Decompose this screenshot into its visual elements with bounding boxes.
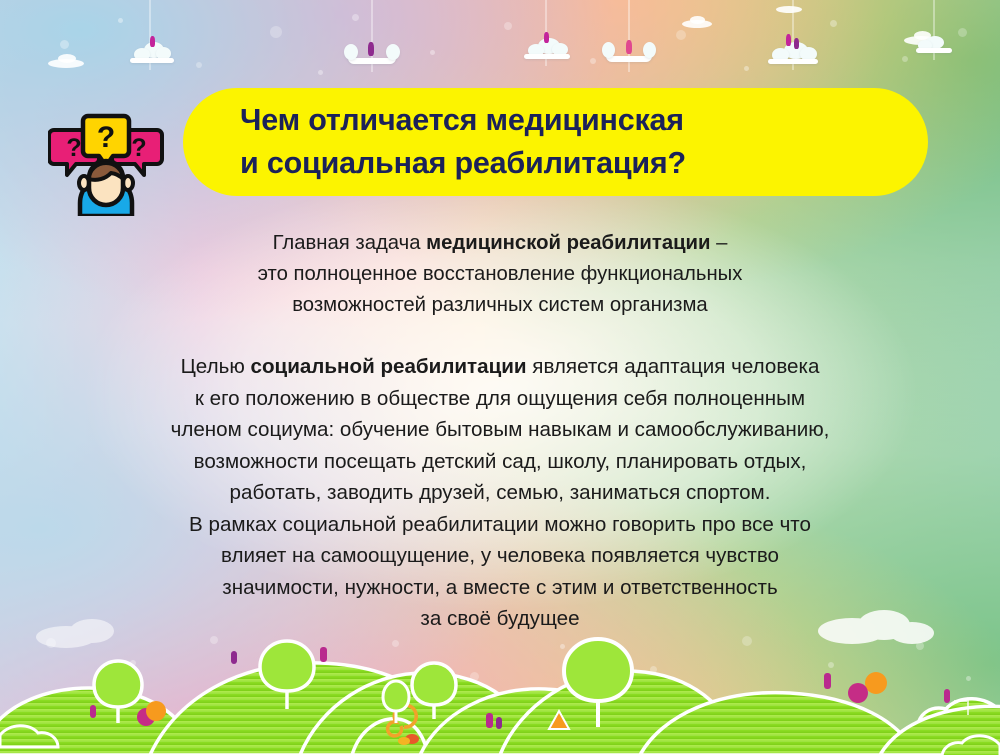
berry-orange [865,672,887,694]
tiny-figure [496,717,502,729]
svg-text:?: ? [97,121,115,154]
tiny-figure [320,647,327,662]
tiny-figure [486,713,493,728]
p2-after: является адаптация человека к его положе… [171,355,830,630]
berry-pink [848,683,868,703]
svg-text:?: ? [131,134,146,162]
body-text-block: Главная задача медицинской реабилитации … [0,228,1000,635]
page-title: Чем отличается медицинскаяи социальная р… [240,99,686,186]
p2-bold: социальной реабилитации [251,355,527,378]
hanging-cloud-swing-3 [518,0,574,66]
paragraph-social-rehab: Целью социальной реабилитации является а… [0,351,1000,635]
berry-orange [146,701,166,721]
hanging-cloud-swing-2 [342,0,402,72]
paragraph-medical-rehab: Главная задача медицинской реабилитации … [0,228,1000,321]
title-line-2: и социальная реабилитация? [240,146,686,180]
slide-canvas: ? ? ? Чем отличается медицинская [0,0,1000,755]
title-line-1: Чем отличается медицинская [240,103,684,137]
tiny-figure [824,673,831,689]
svg-text:?: ? [66,134,81,162]
p1-bold: медицинской реабилитации [426,232,710,254]
title-banner: Чем отличается медицинскаяи социальная р… [183,88,928,196]
p2-before: Целью [181,355,251,378]
tiny-figure [944,689,950,703]
tiny-figure [231,651,237,664]
hanging-cloud-swing-4 [600,0,658,72]
hanging-cloud-swing-1 [122,0,178,70]
hanging-cloud-swing-6 [910,0,958,60]
person-avatar [79,161,133,216]
bottom-cloud-left [36,619,114,648]
bottom-cloud-right [818,610,934,644]
green-hills-landscape [0,595,1000,755]
hanging-cloud-swing-5 [762,0,824,70]
p1-before: Главная задача [273,232,427,254]
person-with-question-bubbles-icon: ? ? ? [48,108,164,216]
